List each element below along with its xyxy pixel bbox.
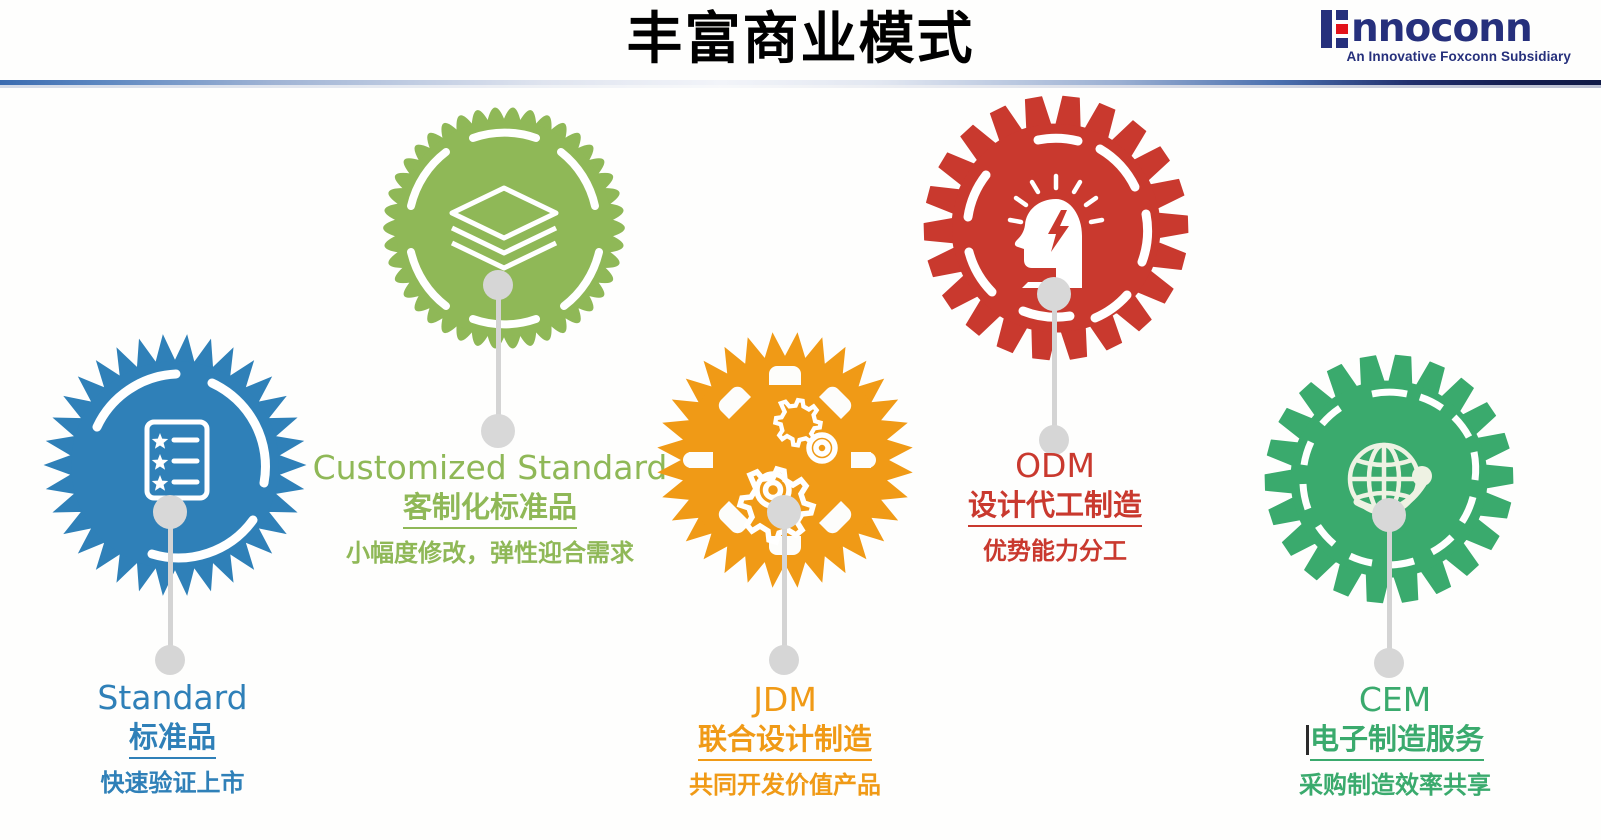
label-cn-cem: 电子制造服务 (1310, 720, 1484, 761)
slide-header: 丰富商业模式 nnoconn An Innovative Foxconn Sub… (0, 0, 1601, 84)
label-sub-standard: 快速验证上市 (25, 765, 320, 801)
innoconn-logo: nnoconn An Innovative Foxconn Subsidiary (1321, 8, 1571, 70)
label-en-cem: CEM (1250, 680, 1540, 720)
labels-odm: ODM 设计代工制造 优势能力分工 (910, 446, 1200, 569)
labels-standard: Standard 标准品 快速验证上市 (25, 678, 320, 801)
labels-jdm: JDM 联合设计制造 共同开发价值产品 (640, 680, 930, 803)
label-cn-jdm: 联合设计制造 (698, 720, 872, 761)
label-en-customized-standard: Customized Standard (300, 448, 680, 488)
label-en-standard: Standard (25, 678, 320, 718)
logo-mark-icon (1321, 10, 1348, 48)
slide-canvas: 丰富商业模式 nnoconn An Innovative Foxconn Sub… (0, 0, 1601, 840)
label-sub-cem: 采购制造效率共享 (1250, 767, 1540, 803)
text-caret (1306, 725, 1309, 755)
logo-wordmark: nnoconn (1351, 10, 1532, 48)
label-sub-jdm: 共同开发价值产品 (640, 767, 930, 803)
logo-tagline: An Innovative Foxconn Subsidiary (1321, 49, 1571, 64)
header-divider-shadow (0, 85, 1601, 88)
gear-standard[interactable] (40, 330, 310, 600)
label-sub-odm: 优势能力分工 (910, 533, 1200, 569)
label-cn-odm: 设计代工制造 (968, 486, 1142, 527)
labels-cem: CEM 电子制造服务 采购制造效率共享 (1250, 680, 1540, 803)
labels-customized-standard: Customized Standard 客制化标准品 小幅度修改，弹性迎合需求 (300, 448, 680, 571)
gear-customized-standard[interactable] (368, 92, 640, 364)
label-sub-customized-standard: 小幅度修改，弹性迎合需求 (300, 535, 680, 571)
label-cn-standard: 标准品 (129, 718, 216, 759)
label-en-jdm: JDM (640, 680, 930, 720)
label-cn-customized-standard: 客制化标准品 (403, 488, 577, 529)
label-en-odm: ODM (910, 446, 1200, 486)
